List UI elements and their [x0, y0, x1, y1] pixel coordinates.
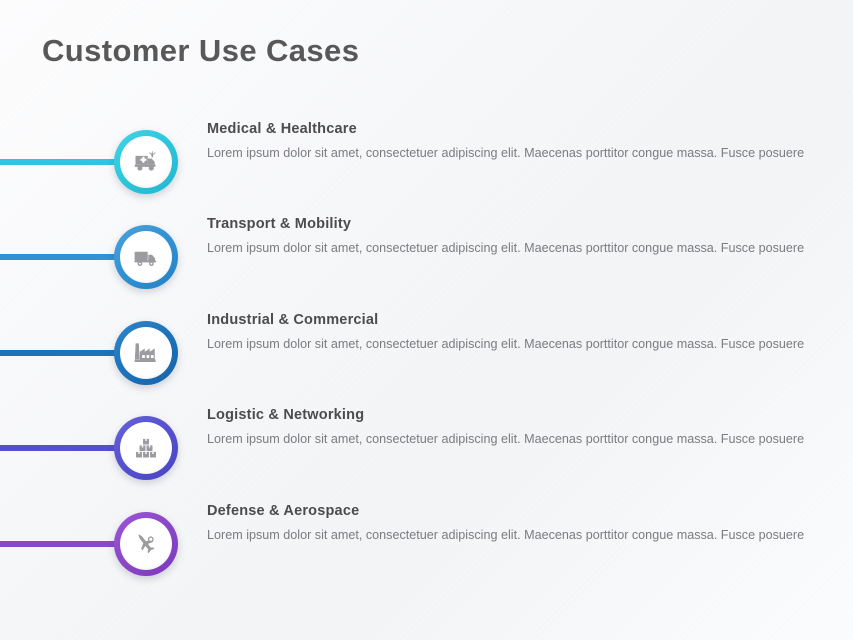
fighter-jet-icon — [132, 530, 160, 558]
slide-canvas: Customer Use Cases Medical & — [0, 0, 853, 640]
use-case-title: Transport & Mobility — [207, 217, 822, 233]
use-case-description: Lorem ipsum dolor sit amet, consectetuer… — [207, 335, 815, 353]
node-disc-5 — [120, 518, 172, 570]
use-case-text-5: Defense & Aerospace Lorem ipsum dolor si… — [207, 504, 822, 544]
stacked-boxes-icon — [132, 434, 160, 462]
use-case-row[interactable]: Defense & Aerospace Lorem ipsum dolor si… — [0, 496, 853, 592]
icon-node-4[interactable] — [114, 416, 178, 480]
use-case-row[interactable]: Industrial & Commercial Lorem ipsum dolo… — [0, 305, 853, 401]
use-case-title: Medical & Healthcare — [207, 122, 822, 138]
icon-node-5[interactable] — [114, 512, 178, 576]
factory-icon — [132, 339, 160, 367]
node-disc-4 — [120, 422, 172, 474]
use-case-text-2: Transport & Mobility Lorem ipsum dolor s… — [207, 217, 822, 257]
page-title: Customer Use Cases — [42, 33, 359, 69]
use-case-text-3: Industrial & Commercial Lorem ipsum dolo… — [207, 313, 822, 353]
use-case-description: Lorem ipsum dolor sit amet, consectetuer… — [207, 239, 815, 257]
use-case-text-4: Logistic & Networking Lorem ipsum dolor … — [207, 408, 822, 448]
node-disc-2 — [120, 231, 172, 283]
icon-node-3[interactable] — [114, 321, 178, 385]
node-disc-1 — [120, 136, 172, 188]
use-case-text-1: Medical & Healthcare Lorem ipsum dolor s… — [207, 122, 822, 162]
icon-node-1[interactable] — [114, 130, 178, 194]
node-disc-3 — [120, 327, 172, 379]
use-case-title: Industrial & Commercial — [207, 313, 822, 329]
truck-icon — [132, 243, 160, 271]
use-case-description: Lorem ipsum dolor sit amet, consectetuer… — [207, 526, 815, 544]
use-case-title: Logistic & Networking — [207, 408, 822, 424]
ambulance-icon — [132, 148, 160, 176]
icon-node-2[interactable] — [114, 225, 178, 289]
use-case-title: Defense & Aerospace — [207, 504, 822, 520]
use-case-row[interactable]: Logistic & Networking Lorem ipsum dolor … — [0, 400, 853, 496]
use-case-row[interactable]: Transport & Mobility Lorem ipsum dolor s… — [0, 209, 853, 305]
use-case-row[interactable]: Medical & Healthcare Lorem ipsum dolor s… — [0, 114, 853, 210]
use-case-description: Lorem ipsum dolor sit amet, consectetuer… — [207, 144, 815, 162]
use-case-description: Lorem ipsum dolor sit amet, consectetuer… — [207, 430, 815, 448]
